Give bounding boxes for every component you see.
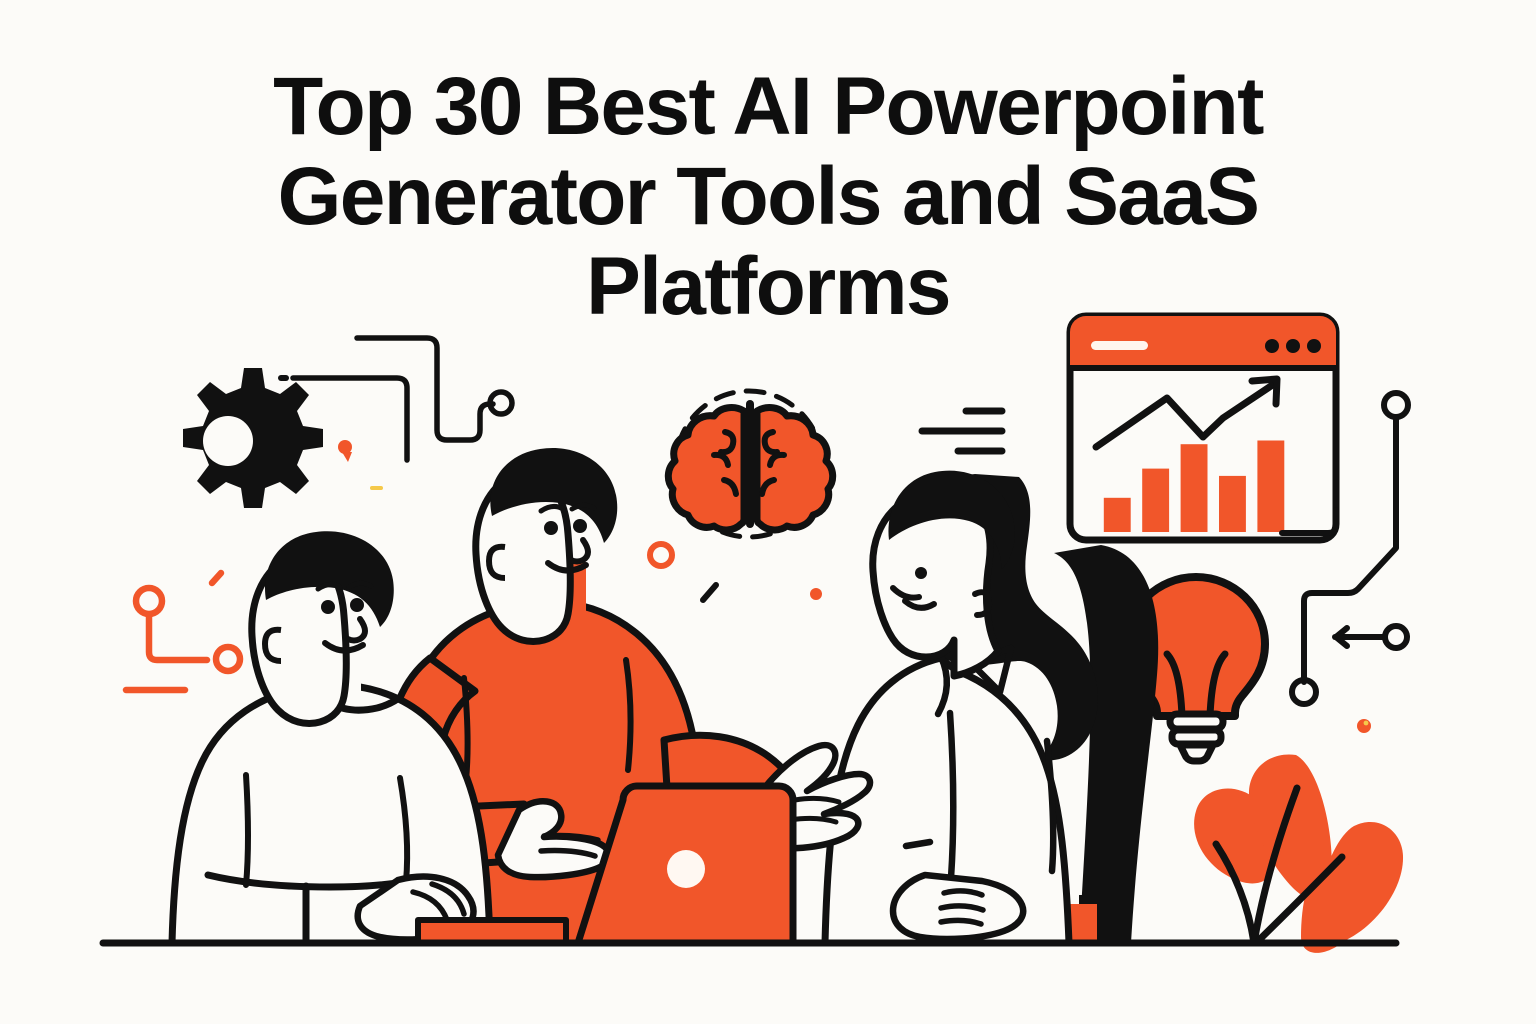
bar-2 (1142, 469, 1169, 532)
brain-icon (668, 391, 832, 537)
person-left-male (172, 531, 490, 943)
person-right-female (825, 471, 1098, 943)
hero-illustration (0, 0, 1536, 1024)
bar-5 (1257, 441, 1284, 533)
browser-chart-window[interactable] (1070, 316, 1336, 540)
speed-lines-icon (922, 411, 1002, 451)
bar-1 (1104, 498, 1131, 532)
window-dots-icon (1265, 339, 1321, 353)
address-bar-pill (1091, 341, 1148, 350)
gear-icon (183, 368, 323, 508)
poster-canvas: Top 30 Best AI Powerpoint Generator Tool… (0, 0, 1536, 1024)
bar-3 (1181, 444, 1208, 532)
circuit-traces-orange-icon (126, 573, 240, 690)
plant-leaves-icon (1194, 754, 1403, 952)
bar-4 (1219, 476, 1246, 532)
eye (915, 567, 927, 579)
laptop-logo-icon (667, 850, 705, 888)
